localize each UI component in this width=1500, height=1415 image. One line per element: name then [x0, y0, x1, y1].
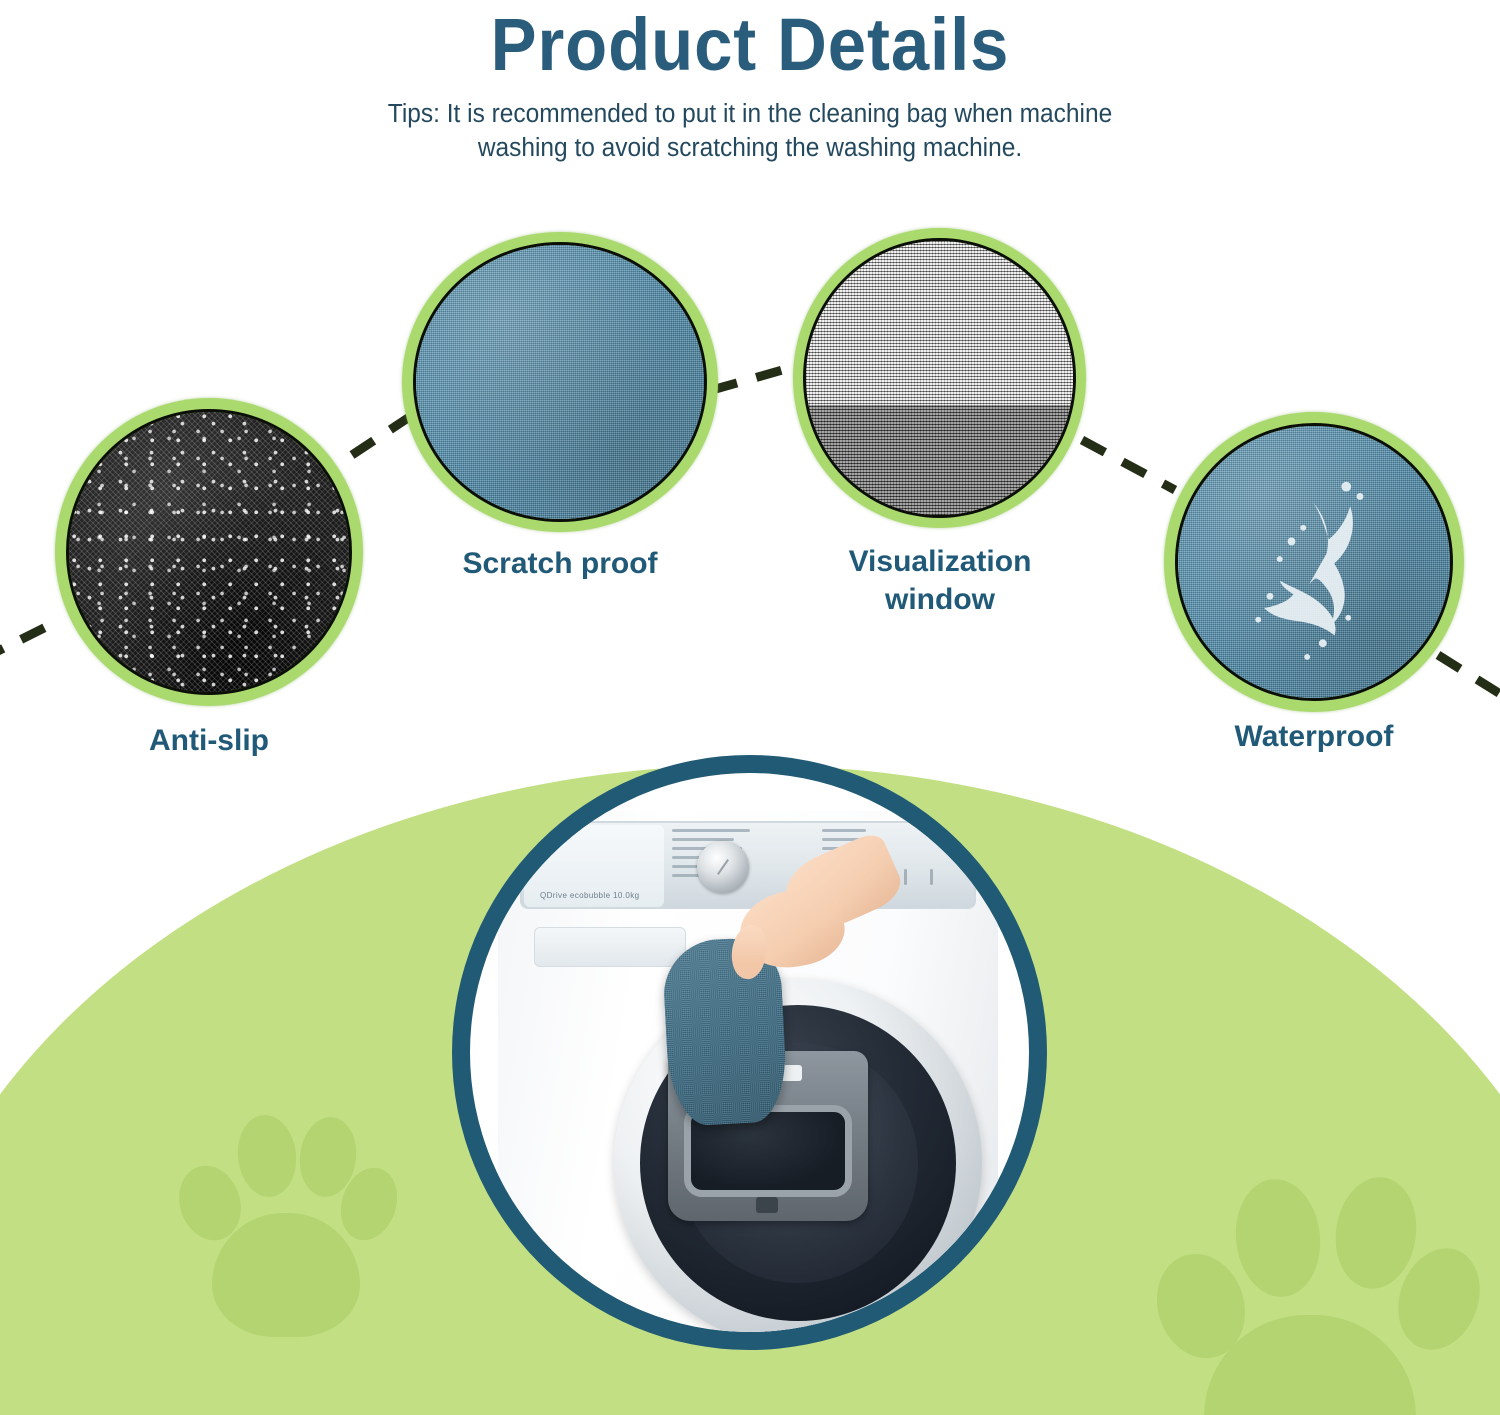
panel-button-3[interactable]	[904, 869, 907, 885]
anti-slip-fabric-swatch	[66, 409, 352, 695]
paw-print-icon-left	[170, 1105, 400, 1345]
thumb	[728, 923, 769, 981]
panel-button-4[interactable]	[930, 869, 933, 885]
washing-machine-photo: QDrive ecobubble 10.0kg	[470, 773, 1029, 1332]
tips-text: Tips: It is recommended to put it in the…	[30, 98, 1470, 165]
detergent-drawer[interactable]	[534, 927, 686, 967]
feature-anti-slip[interactable]	[55, 398, 363, 706]
visualization-window-mesh-swatch	[803, 238, 1076, 518]
waterproof-fabric-swatch	[1175, 423, 1453, 701]
feature-waterproof[interactable]	[1164, 412, 1464, 712]
header: Product Details Tips: It is recommended …	[0, 0, 1500, 165]
add-wash-door-latch[interactable]	[756, 1197, 778, 1213]
feature-visualization-window[interactable]	[793, 228, 1086, 528]
feature-label-visualization-window: Visualization window	[780, 543, 1100, 619]
product-details-infographic: Product Details Tips: It is recommended …	[0, 0, 1500, 1415]
hand	[730, 863, 890, 993]
water-splash-icon	[1178, 426, 1450, 698]
scratch-proof-fabric-swatch	[413, 242, 707, 522]
bottom-scene: QDrive ecobubble 10.0kg	[0, 735, 1500, 1415]
brand-label: QDrive ecobubble 10.0kg	[540, 891, 639, 900]
washing-machine-ring: QDrive ecobubble 10.0kg	[452, 755, 1047, 1350]
feature-label-scratch-proof: Scratch proof	[400, 545, 720, 583]
paw-print-icon-right	[1150, 1165, 1480, 1415]
washing-machine-body: QDrive ecobubble 10.0kg	[498, 811, 998, 1332]
page-title: Product Details	[53, 8, 1448, 82]
feature-scratch-proof[interactable]	[402, 232, 718, 532]
